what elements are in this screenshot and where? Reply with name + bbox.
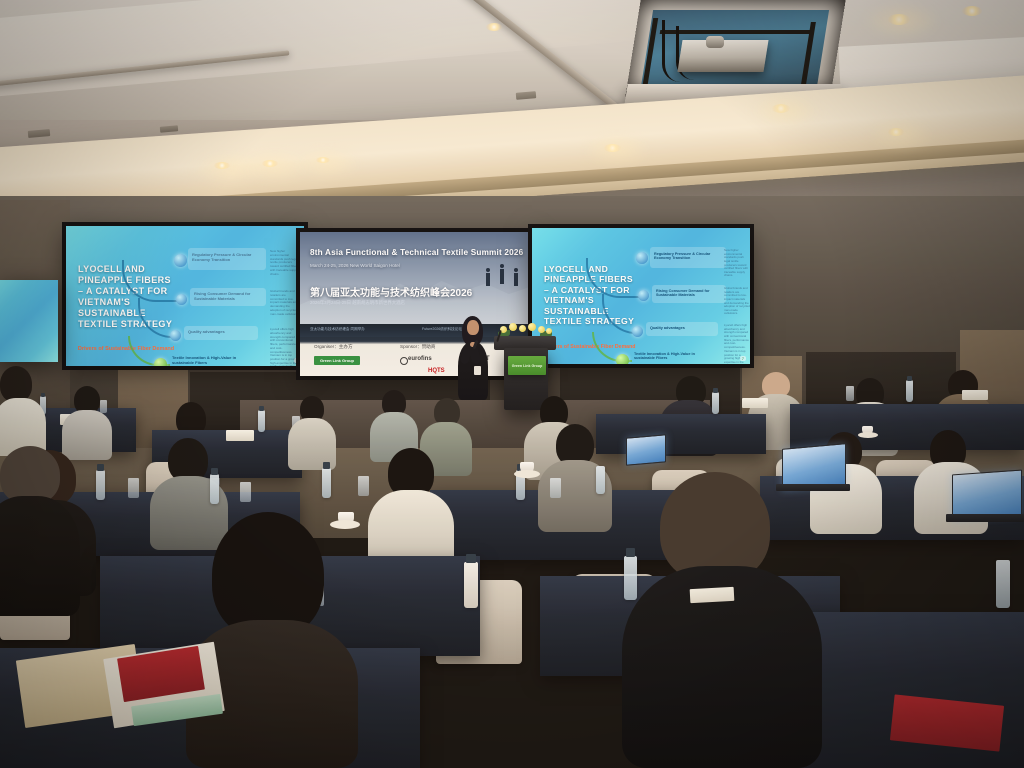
bottle-9 [596,466,605,494]
bottle-cap-6 [211,468,218,475]
sponsor-label: Sponsor：赞助商 [400,344,436,350]
downlight-cone-6 [862,2,942,40]
speaker-badge [474,366,481,375]
right-slide-page-number: 7 [740,356,746,361]
banner-figure-body-3 [514,273,518,286]
right-slide-point-label-2: Rising Consumer Demand for Sustainable M… [656,289,724,298]
flower-2 [509,323,517,331]
note-paper-1 [690,587,735,603]
left-slide-node-4 [154,358,167,366]
bottle-11 [624,556,637,600]
glass-7 [550,478,561,498]
downlight-cone-4 [582,134,652,166]
organiser-logo: Green Link Group [314,356,360,365]
bottle-5 [96,470,105,500]
downlight-3 [316,157,330,163]
bottle-4 [906,380,913,402]
speaker-head [467,320,479,335]
flower-4 [528,323,536,331]
bottle-6 [210,474,219,504]
left-slide-chip-bg-3 [184,326,258,340]
banner-title-en: 8th Asia Functional & Technical Textile … [310,248,523,257]
laptop-base-1 [776,484,850,491]
eurofins-logo-mark [400,357,408,365]
table-back-right [596,414,766,454]
left-slide-chip-bg-2 [190,288,266,306]
laptop-screen-2[interactable] [952,470,1022,521]
right-presentation-screen: LYOCELL AND PINEAPPLE FIBERS – A CATALYS… [532,228,750,364]
banner-strip-left-text: 亚太功能与技术纺织峰会 同期举办 [310,327,365,332]
glass-1 [100,400,107,413]
conference-room-photo: LYOCELL AND PINEAPPLE FIBERS – A CATALYS… [0,0,1024,768]
right-slide-point-body-1: New higher environmental standards push … [724,249,750,278]
bottle-cap-7 [323,462,330,469]
saucer-1 [858,432,878,438]
attendee-body [62,410,112,460]
bottle-3 [712,392,719,414]
bottle-cap-5 [97,464,104,471]
right-slide-point-label-1: Regulatory Pressure & Circular Economy T… [654,252,722,261]
downlight-cone-8 [750,94,822,128]
flower-5 [538,326,545,333]
bottle-cap-4 [907,376,912,381]
downlight-9 [486,23,502,31]
sponsor-logo-eurofins: eurofins [408,356,432,362]
left-slide-chip-bg-1 [188,248,266,270]
sponsor-logo-hqts: HQTS [428,368,445,374]
left-slide-node-3 [170,330,181,341]
glass-4 [128,478,139,498]
name-card-2 [226,430,254,441]
name-card-4 [962,390,988,400]
banner-date-cn: 2026年3月24日-25日 越南胡志明市新世界大酒店 [310,300,405,306]
laptop-screen-4[interactable] [626,434,666,465]
glass-3 [846,386,854,401]
right-slide-point-label-4: Textile Innovation & High-Value in susta… [634,352,706,361]
left-slide-node-2 [176,294,187,305]
laptop-base-2 [946,514,1024,522]
flower-3 [519,325,526,332]
far-left-screen-partial [0,280,58,362]
downlight-1 [214,162,230,169]
bottle-cap-3 [713,388,718,393]
flower-6 [546,328,552,334]
bottle-2 [258,410,265,432]
table-back-far-right [790,404,1024,450]
right-slide-node-2 [638,290,649,301]
banner-figure-body-1 [486,273,490,286]
glass-5 [240,482,251,502]
projector-lens [706,36,724,48]
banner-figure-body-2 [500,269,504,284]
right-slide-node-4 [616,354,629,364]
downlight-7 [962,6,982,16]
bottle-cap-11 [626,548,635,557]
saucer-3 [330,520,360,529]
bottle-7 [322,468,331,498]
left-slide-node-1 [174,254,187,267]
right-slide-node-3 [632,326,643,337]
banner-strip-right-text: Future2026纺织科技论坛 [422,327,462,332]
downlight-2 [262,160,278,167]
downlight-cone-5 [866,118,936,150]
banner-figure-head-2 [500,264,504,268]
banner-figure-head-1 [486,268,490,272]
left-presentation-screen: LYOCELL AND PINEAPPLE FIBERS – A CATALYS… [66,226,304,366]
glass-6 [358,476,369,496]
banner-date-venue: March 24-25, 2026 New World Saigon Hotel [310,263,400,268]
bottle-12 [996,560,1010,608]
banner-figure-head-3 [514,268,518,272]
attendee-hair [0,366,32,402]
center-banner-screen: 8th Asia Functional & Technical Textile … [300,232,532,376]
name-card-3 [742,398,768,408]
right-slide-node-1 [636,252,648,264]
podium-sign: Green Link Group [508,356,546,375]
right-slide-point-body-2: Global brands and retailers are committe… [724,287,750,316]
right-slide-point-body-4: Vietnam is in top position for a growing… [724,350,750,364]
bottle-cap-1 [41,393,45,397]
right-slide-point-body-3: Lyocell offers high absorbency and stren… [724,324,750,349]
banner-title-cn: 第八届亚太功能与技术纺织峰会2026 [310,284,472,299]
organiser-label: Organiser：主办方 [314,344,353,350]
right-slide-point-label-3: Quality advantages [650,326,718,330]
saucer-2 [514,470,540,478]
left-slide-point-label-4: Textile Innovation & High-Value in susta… [172,356,246,365]
bottle-10 [464,562,478,608]
bottle-cap-10 [466,554,476,563]
bottle-cap-2 [259,406,264,411]
attendee-body [0,496,80,616]
downlight-cone-3 [292,148,362,180]
far-left-slide-background [0,280,58,362]
